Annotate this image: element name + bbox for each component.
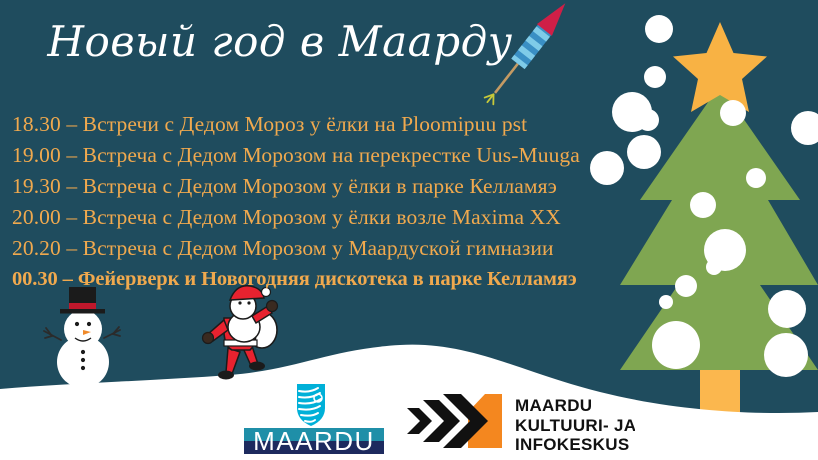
maardu-logo: MAARDU [240,382,388,456]
santa-mitten-right [267,301,278,312]
santa-mitten-left [203,333,214,344]
shell-emblem-icon [297,384,325,426]
snowman-head [64,310,102,348]
kultuurikeskus-wordmark: MAARDU KULTUURI- JA INFOKESKUS [515,396,635,452]
kultuurikeskus-logo: MAARDU KULTUURI- JA INFOKESKUS [405,390,635,452]
santa-boot-right [249,362,265,371]
snowman-buttons [81,350,85,370]
maardu-wordmark-band: MAARDU [244,426,384,456]
schedule-item: 20.20 – Встреча с Дедом Морозом у Маарду… [12,233,612,264]
poster-canvas: Новый год в Маарду 18.30 – Встречи с Дед… [0,0,818,460]
kk-line-3: INFOKESKUS [515,435,629,452]
chevron-house-mark-icon [407,394,502,448]
schedule-item: 20.00 – Встреча с Дедом Морозом у ёлки в… [12,202,612,233]
schedule-item: 19.00 – Встреча с Дедом Морозом на перек… [12,140,612,171]
schedule-item: 18.30 – Встречи с Дедом Мороз у ёлки на … [12,109,612,140]
santa-boot-left [218,371,234,380]
poster-title: Новый год в Маарду [0,18,560,66]
maardu-wordmark-text: MAARDU [253,426,375,456]
maardu-logo-svg: MAARDU [240,382,388,456]
schedule-item-highlight: 00.30 – Фейерверк и Новогодняя дискотека… [12,264,612,295]
kk-line-1: MAARDU [515,396,592,415]
kultuurikeskus-logo-svg: MAARDU KULTUURI- JA INFOKESKUS [405,390,635,452]
kk-line-2: KULTUURI- JA [515,416,635,435]
schedule-list: 18.30 – Встречи с Дедом Мороз у ёлки на … [12,109,612,295]
schedule-item: 19.30 – Встреча с Дедом Морозом у ёлки в… [12,171,612,202]
